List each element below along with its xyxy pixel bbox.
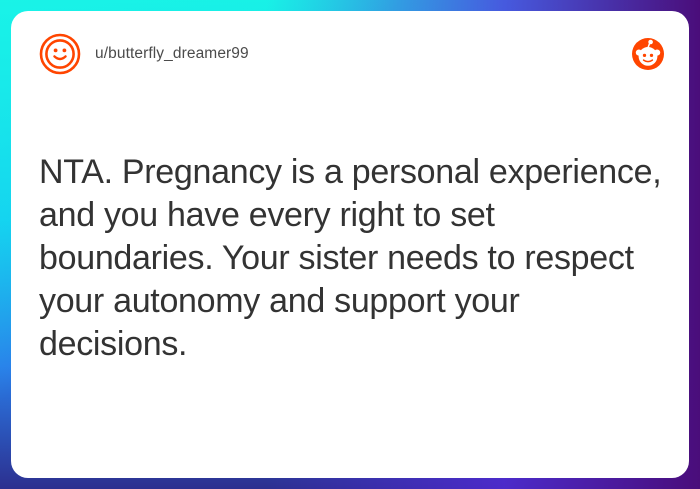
quote-card: u/butterfly_dreamer99 NTA. Pregnancy is … [11,11,689,478]
post-body-text: NTA. Pregnancy is a personal experience,… [39,151,663,366]
username-label: u/butterfly_dreamer99 [95,45,249,63]
smiley-face-icon [39,33,81,75]
reddit-snoo-icon[interactable] [631,37,665,71]
card-header: u/butterfly_dreamer99 [11,11,689,97]
